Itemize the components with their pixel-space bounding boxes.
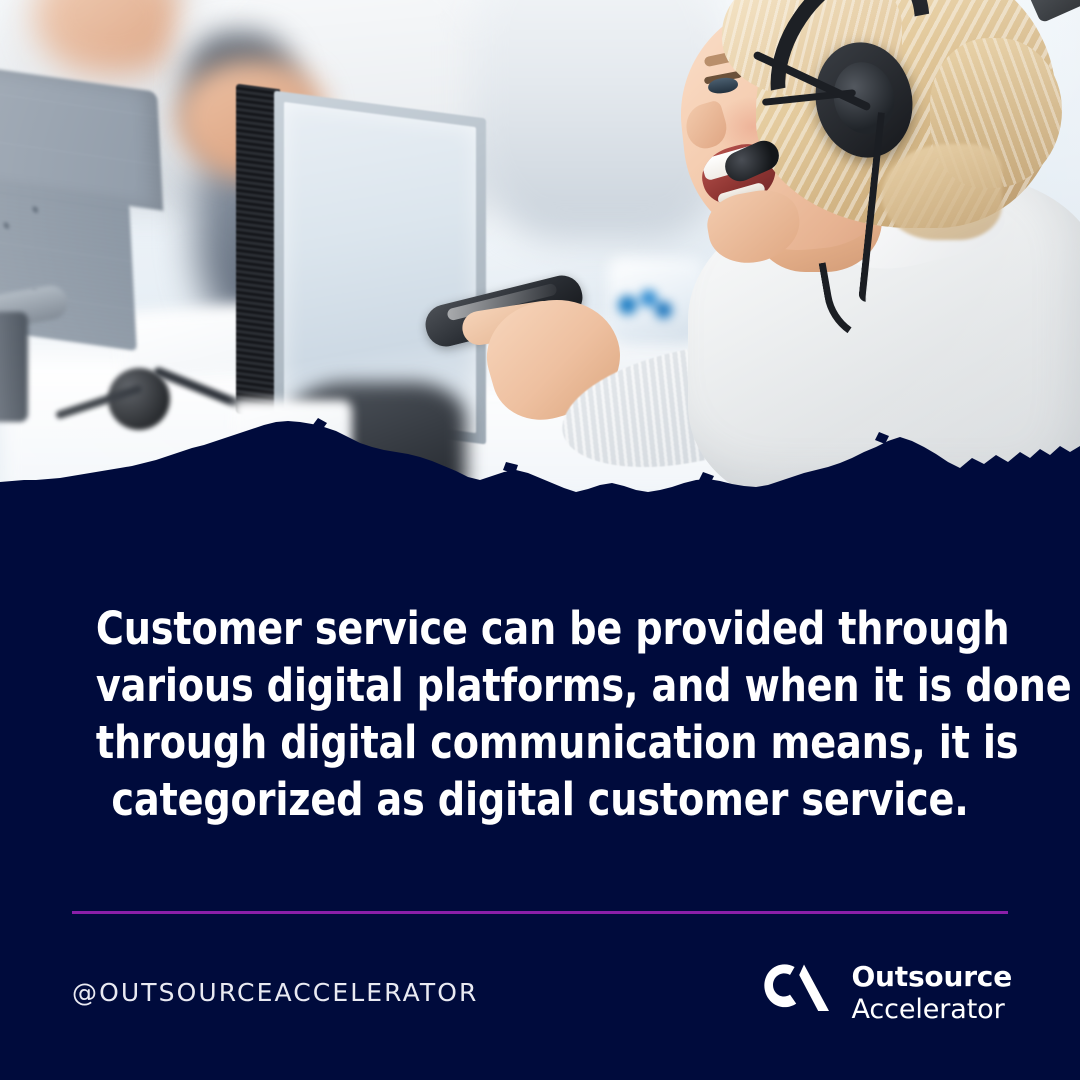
brand-logo-wordmark: Outsource Accelerator xyxy=(851,963,1012,1023)
brand-logo: Outsource Accelerator xyxy=(763,960,1012,1026)
post-content: Customer service can be provided through… xyxy=(0,468,1080,1080)
social-post-canvas: Customer service can be provided through… xyxy=(0,0,1080,1080)
left-monitor-post xyxy=(0,312,28,422)
monitor-screw xyxy=(3,222,9,229)
headline-line-4: categorized as digital customer service. xyxy=(96,771,984,828)
brand-name-line-1: Outsource xyxy=(851,963,1012,991)
footer-divider-rule xyxy=(72,911,1008,914)
office-scene xyxy=(0,0,1080,500)
customer-service-agent xyxy=(630,0,1080,500)
headline-line-1: Customer service can be provided through xyxy=(96,600,984,657)
outsource-accelerator-logo-icon xyxy=(763,960,835,1026)
monitor-screw xyxy=(32,206,38,213)
headline-quote: Customer service can be provided through… xyxy=(96,600,984,828)
social-handle: @OUTSOURCEACCELERATOR xyxy=(72,978,479,1007)
hero-photo xyxy=(0,0,1080,500)
headline-line-3: through digital communication means, it … xyxy=(96,714,984,771)
headline-line-2: various digital platforms, and when it i… xyxy=(96,657,984,714)
brand-name-line-2: Accelerator xyxy=(851,996,1012,1023)
headset-clip xyxy=(1027,0,1080,24)
